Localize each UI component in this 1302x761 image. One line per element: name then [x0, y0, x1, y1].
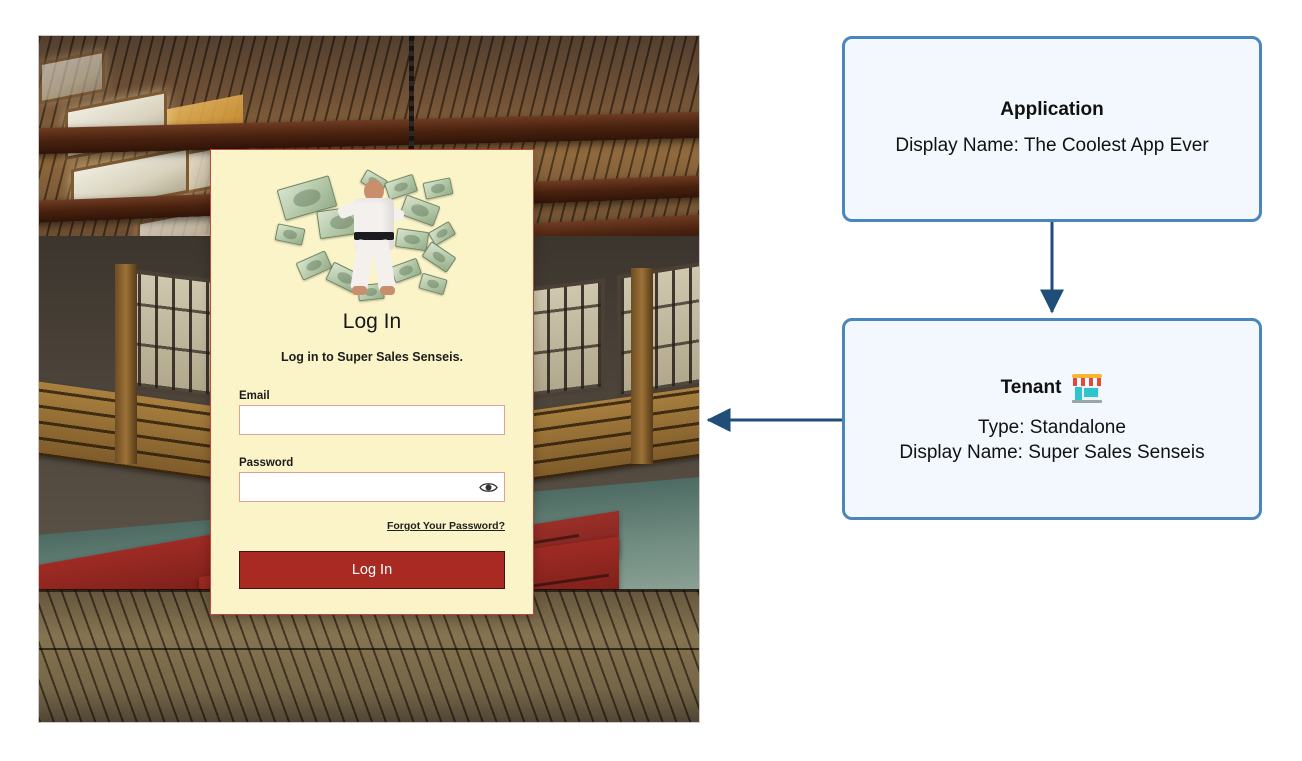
- node-title-application: Application: [1000, 99, 1103, 121]
- diagram-node-tenant[interactable]: Tenant Type: Standalone Display Name: Su…: [842, 318, 1262, 520]
- money-bill: [422, 241, 457, 273]
- password-field-wrapper: [239, 472, 505, 502]
- money-bill: [275, 223, 306, 245]
- shoji-screen: [617, 261, 699, 400]
- karate-sensei-figure: [352, 180, 396, 296]
- password-label: Password: [239, 457, 505, 469]
- node-line-display-name: Display Name: Super Sales Senseis: [899, 440, 1204, 465]
- plank-seam: [39, 648, 699, 650]
- forgot-password-link[interactable]: Forgot Your Password?: [387, 520, 505, 532]
- eye-icon: [479, 481, 498, 494]
- node-title-tenant-label: Tenant: [1001, 377, 1062, 399]
- wooden-post: [631, 268, 653, 464]
- email-field[interactable]: [239, 405, 505, 435]
- node-line-type: Type: Standalone: [978, 415, 1126, 440]
- forgot-password-row: Forgot Your Password?: [239, 516, 505, 534]
- page-title: Log In: [239, 310, 505, 334]
- login-screenshot: Log In Log in to Super Sales Senseis. Em…: [38, 35, 700, 723]
- show-password-toggle[interactable]: [477, 476, 499, 498]
- login-card: Log In Log in to Super Sales Senseis. Em…: [210, 149, 534, 615]
- password-field[interactable]: [239, 472, 505, 502]
- money-bill: [418, 273, 447, 296]
- money-bill: [423, 177, 454, 199]
- app-logo: [274, 172, 470, 306]
- money-bill: [395, 228, 429, 251]
- node-line-display-name: Display Name: The Coolest App Ever: [895, 133, 1208, 158]
- login-subtitle: Log in to Super Sales Senseis.: [239, 350, 505, 364]
- lamp-chain: [409, 36, 414, 156]
- money-bill: [399, 194, 440, 226]
- node-title-tenant: Tenant: [1001, 373, 1104, 403]
- wooden-post: [115, 264, 137, 464]
- diagram-node-application[interactable]: Application Display Name: The Coolest Ap…: [842, 36, 1262, 222]
- email-label: Email: [239, 390, 505, 402]
- login-submit-button[interactable]: Log In: [239, 551, 505, 589]
- store-icon: [1071, 373, 1103, 403]
